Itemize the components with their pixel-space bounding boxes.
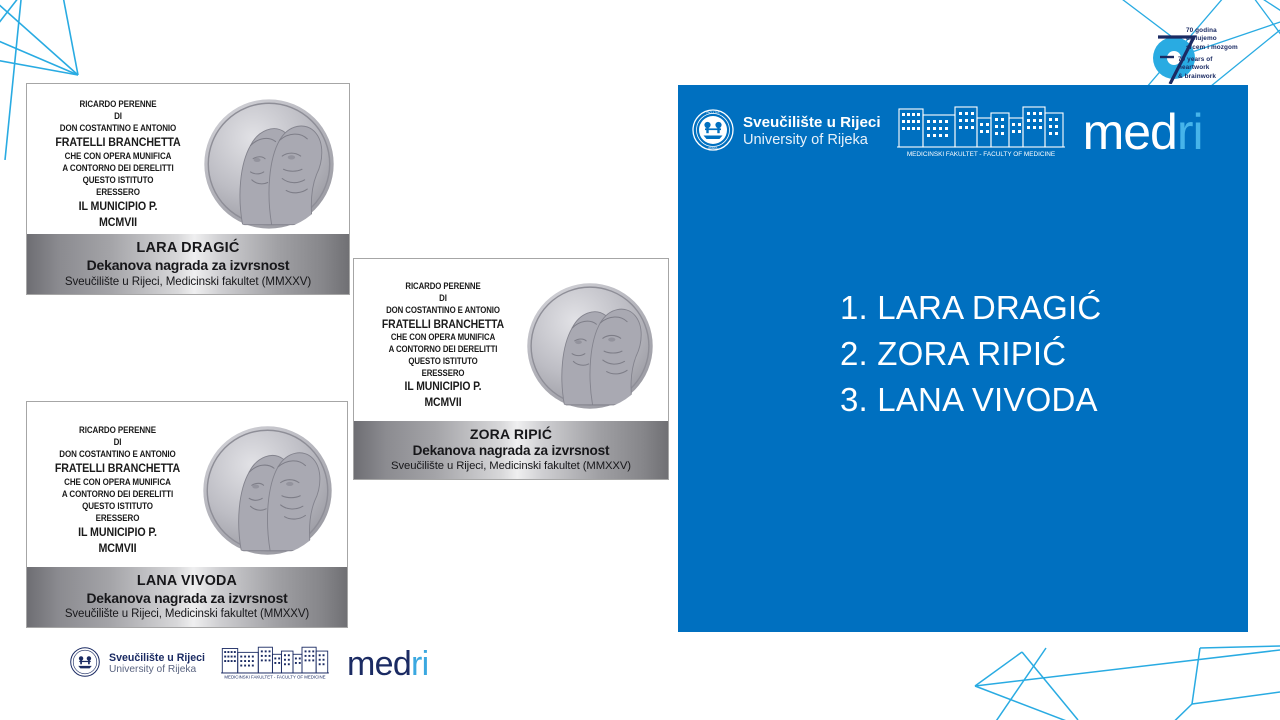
anniversary-en-line3: & brainwork — [1178, 73, 1216, 81]
anniversary-tagline-hr: 70 godina djelujemo srcem i mozgom — [1186, 27, 1238, 52]
award-institution: Sveučilište u Rijeci, Medicinski fakulte… — [27, 608, 347, 620]
anniversary-logo: 70 godina djelujemo srcem i mozgom 70 ye… — [1138, 18, 1270, 84]
faculty-caption: MEDICINSKI FAKULTET - FACULTY OF MEDICIN… — [906, 151, 1054, 158]
medri-dark-part: med — [347, 645, 411, 683]
slide-canvas: 70 godina djelujemo srcem i mozgom 70 ye… — [0, 0, 1280, 720]
medri-cyan-part: ri — [411, 645, 428, 683]
inscription-line: CHE CON OPERA MUNIFICA — [45, 150, 191, 162]
inscription-line: QUESTO ISTITUTO — [45, 174, 191, 186]
certificate-card: RICARDO PERENNE DI DON COSTANTINO E ANTO… — [353, 258, 669, 480]
inscription-line: DON COSTANTINO E ANTONIO — [372, 305, 515, 317]
certificate-inscription: RICARDO PERENNE DI DON COSTANTINO E ANTO… — [360, 281, 526, 411]
certificate-card: RICARDO PERENNE DI DON COSTANTINO E ANTO… — [26, 83, 350, 295]
inscription-line: RICARDO PERENNE — [45, 98, 191, 110]
inscription-line: FRATELLI BRANCHETTA — [372, 317, 515, 333]
inscription-line: DI — [45, 436, 190, 448]
university-seal-icon: FACULTAS RIJEKA — [692, 109, 734, 156]
anniversary-hr-line2: djelujemo — [1186, 35, 1238, 43]
inscription-line: IL MUNICIPIO P. — [372, 379, 515, 395]
inscription-line: IL MUNICIPIO P. — [45, 198, 191, 214]
anniversary-en-line1: 70 years of — [1178, 56, 1216, 64]
winner-item-1: 1. LARA DRAGIĆ — [840, 285, 1101, 331]
medal-image — [526, 282, 654, 410]
footer-brand-lockup: Sveučilište u Rijeci University of Rijek… — [70, 643, 429, 685]
university-name: Sveučilište u Rijeci University of Rijek… — [743, 114, 881, 149]
winners-list: 1. LARA DRAGIĆ 2. ZORA RIPIĆ 3. LANA VIV… — [840, 285, 1101, 424]
inscription-line: QUESTO ISTITUTO — [45, 500, 190, 512]
inscription-line: RICARDO PERENNE — [45, 424, 190, 436]
faculty-building-icon: MEDICINSKI FAKULTET - FACULTY OF MEDICIN… — [897, 101, 1065, 164]
certificate-award-band: LARA DRAGIĆ Dekanova nagrada za izvrsnos… — [27, 234, 349, 294]
certificate-award-band: LANA VIVODA Dekanova nagrada za izvrsnos… — [27, 567, 347, 627]
inscription-line: ERESSERO — [45, 512, 190, 524]
medri-wordmark: medri — [347, 645, 429, 684]
inscription-line: ERESSERO — [372, 368, 515, 380]
award-title: Dekanova nagrada za izvrsnost — [354, 443, 668, 458]
inscription-line: FRATELLI BRANCHETTA — [45, 134, 191, 150]
award-institution: Sveučilište u Rijeci, Medicinski fakulte… — [354, 460, 668, 472]
inscription-line: CHE CON OPERA MUNIFICA — [372, 332, 515, 344]
inscription-line: CHE CON OPERA MUNIFICA — [45, 476, 190, 488]
decorative-lines-bottom-right — [950, 630, 1280, 720]
certificate-inscription: RICARDO PERENNE DI DON COSTANTINO E ANTO… — [33, 98, 203, 231]
university-name: Sveučilište u Rijeci University of Rijek… — [109, 652, 205, 677]
awardee-name: ZORA RIPIĆ — [354, 426, 668, 442]
winner-item-3: 3. LANA VIVODA — [840, 377, 1101, 423]
inscription-line: DI — [372, 293, 515, 305]
blue-content-panel: FACULTAS RIJEKA Sveučilište u Rijeci Uni… — [678, 85, 1248, 632]
faculty-building-icon: MEDICINSKI FAKULTET - FACULTY OF MEDICIN… — [221, 643, 329, 686]
medal-image — [203, 98, 335, 230]
awardee-name: LANA VIVODA — [27, 573, 347, 589]
anniversary-en-line2: heartwork — [1178, 64, 1216, 72]
certificate-award-band: ZORA RIPIĆ Dekanova nagrada za izvrsnost… — [354, 421, 668, 479]
inscription-line: QUESTO ISTITUTO — [372, 356, 515, 368]
award-institution: Sveučilište u Rijeci, Medicinski fakulte… — [27, 275, 349, 288]
inscription-line: ERESSERO — [45, 186, 191, 198]
university-seal-icon — [70, 647, 100, 682]
medal-image — [202, 425, 333, 556]
university-name-en: University of Rijeka — [743, 132, 881, 149]
medri-wordmark: medri — [1083, 103, 1203, 161]
medri-white-part: med — [1083, 104, 1177, 160]
university-name-hr: Sveučilište u Rijeci — [743, 114, 881, 132]
award-title: Dekanova nagrada za izvrsnost — [27, 257, 349, 273]
inscription-line: A CONTORNO DEI DERELITTI — [372, 344, 515, 356]
anniversary-hr-line3: srcem i mozgom — [1186, 44, 1238, 52]
certificate-inscription: RICARDO PERENNE DI DON COSTANTINO E ANTO… — [33, 424, 202, 557]
medri-cyan-part: ri — [1177, 104, 1203, 160]
inscription-line: MCMVII — [372, 395, 515, 411]
faculty-caption: MEDICINSKI FAKULTET - FACULTY OF MEDICIN… — [224, 674, 325, 679]
inscription-line: DI — [45, 110, 191, 122]
inscription-line: DON COSTANTINO E ANTONIO — [45, 122, 191, 134]
university-name-hr: Sveučilište u Rijeci — [109, 652, 205, 665]
award-title: Dekanova nagrada za izvrsnost — [27, 590, 347, 606]
awardee-name: LARA DRAGIĆ — [27, 240, 349, 256]
anniversary-hr-line1: 70 godina — [1186, 27, 1238, 35]
inscription-line: MCMVII — [45, 540, 190, 556]
inscription-line: IL MUNICIPIO P. — [45, 524, 190, 540]
svg-text:RIJEKA: RIJEKA — [708, 146, 717, 150]
svg-text:FACULTAS: FACULTAS — [706, 110, 719, 114]
inscription-line: FRATELLI BRANCHETTA — [45, 460, 190, 476]
certificate-card: RICARDO PERENNE DI DON COSTANTINO E ANTO… — [26, 401, 348, 628]
anniversary-tagline-en: 70 years of heartwork & brainwork — [1178, 56, 1216, 81]
inscription-line: MCMVII — [45, 214, 191, 230]
inscription-line: A CONTORNO DEI DERELITTI — [45, 488, 190, 500]
inscription-line: RICARDO PERENNE — [372, 281, 515, 293]
panel-brand-lockup: FACULTAS RIJEKA Sveučilište u Rijeci Uni… — [692, 101, 1203, 163]
inscription-line: A CONTORNO DEI DERELITTI — [45, 162, 191, 174]
winner-item-2: 2. ZORA RIPIĆ — [840, 331, 1101, 377]
inscription-line: DON COSTANTINO E ANTONIO — [45, 448, 190, 460]
university-name-en: University of Rijeka — [109, 664, 205, 676]
